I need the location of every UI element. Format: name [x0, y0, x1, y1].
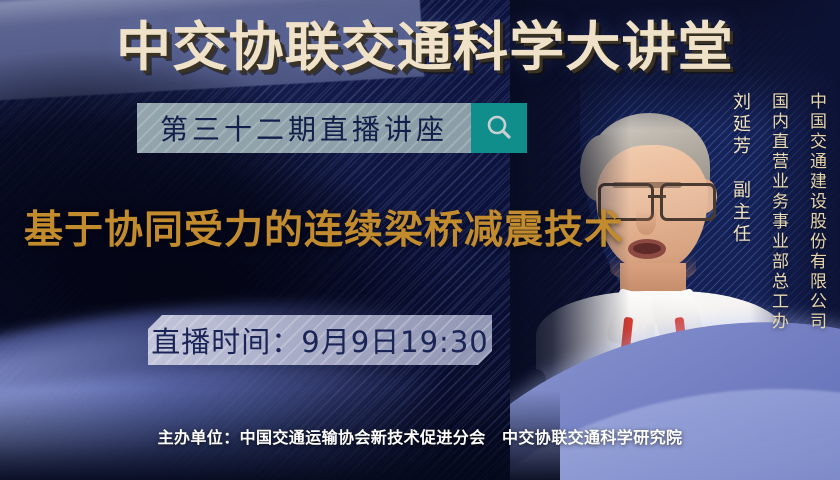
- search-button[interactable]: [471, 103, 527, 153]
- organizer-footer: 主办单位：中国交通运输协会新技术促进分会 中交协联交通科学研究院: [0, 424, 840, 448]
- speaker-nose: [636, 209, 656, 235]
- glasses-lens-right: [660, 183, 716, 221]
- speaker-mouth-inner: [633, 243, 661, 254]
- broadcast-time-text: 直播时间：9月9日19:30: [151, 319, 488, 361]
- speaker-credit: 中国交通建设股份有限公司 国内直营业务事业部总工办 刘延芳 副主任: [730, 92, 826, 332]
- subtitle-text: 第三十二期直播讲座: [160, 108, 448, 148]
- speaker-name-title: 刘延芳 副主任: [730, 92, 750, 246]
- search-icon: [484, 113, 514, 143]
- subtitle-banner-body: 第三十二期直播讲座: [137, 103, 471, 153]
- lecture-title: 基于协同受力的连续梁桥减震技术: [24, 208, 624, 254]
- speaker-company: 中国交通建设股份有限公司: [806, 92, 826, 332]
- subtitle-banner: 第三十二期直播讲座: [137, 103, 527, 153]
- broadcast-time-badge: 直播时间：9月9日19:30: [148, 315, 492, 365]
- live-stream-poster: 中交协联交通科学大讲堂 第三十二期直播讲座 基于协同受力的连续梁桥减震技术 直播…: [0, 0, 840, 480]
- speaker-department: 国内直营业务事业部总工办: [768, 92, 788, 332]
- page-title: 中交协联交通科学大讲堂: [116, 18, 734, 78]
